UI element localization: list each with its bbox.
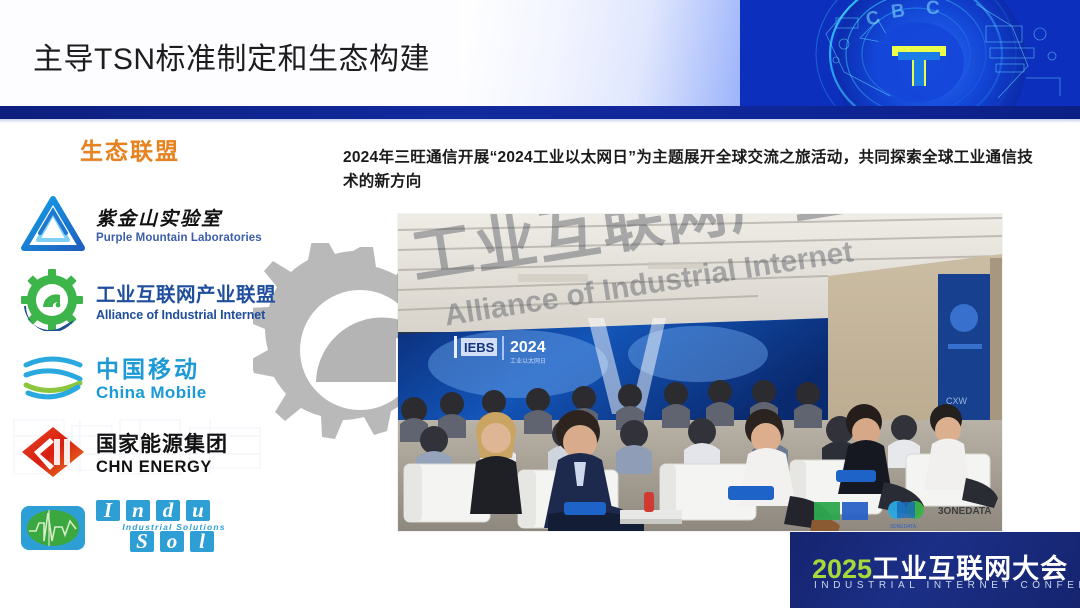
chn-energy-logo-icon — [18, 421, 88, 483]
partner-logo-purple-mountain-laboratories: 紫金山实验室 Purple Mountain Laboratories — [0, 186, 290, 262]
svg-text:3ONEDATA: 3ONEDATA — [890, 524, 917, 530]
svg-text:B: B — [890, 0, 907, 23]
partner-logo-alliance-of-industrial-internet: 工业互联网产业联盟 Alliance of Industrial Interne… — [0, 262, 290, 338]
partner-name-en: Alliance of Industrial Internet — [96, 308, 276, 322]
event-photo: CXW IEBS 2024 工业以太网日 — [398, 214, 1002, 531]
indu-sol-tagline: Industrial Solutions — [102, 522, 246, 532]
svg-text:IEBS: IEBS — [464, 340, 495, 355]
body-paragraph: 2024年三旺通信开展“2024工业以太网日”为主题展开全球交流之旅活动，共同探… — [343, 146, 1033, 195]
svg-text:C: C — [926, 0, 940, 19]
header-divider-band — [0, 106, 1080, 119]
header-divider-shadow — [0, 119, 1080, 123]
indu-sol-logo-icon — [18, 497, 88, 559]
indu-sol-letter: I — [96, 500, 120, 521]
partner-logo-chn-energy: 国家能源集团 CHN ENERGY — [0, 414, 290, 490]
page-title: 主导TSN标准制定和生态构建 — [33, 34, 430, 78]
section-heading: 生态联盟 — [80, 132, 180, 166]
indu-sol-letter: u — [186, 500, 210, 521]
purple-mountain-laboratories-logo-icon — [18, 193, 88, 255]
china-mobile-logo-icon — [18, 345, 88, 407]
partner-name-cn: 工业互联网产业联盟 — [96, 278, 276, 307]
partner-logo-indu-sol: I n d u Industrial Solutions S o l — [0, 490, 290, 566]
partner-name-en: China Mobile — [96, 383, 207, 403]
indu-sol-letter: o — [160, 531, 184, 552]
slide-header: C B C 主导TSN标准制定和生态构建 — [0, 0, 1080, 106]
partner-name-cn: 国家能源集团 — [96, 428, 228, 458]
slide-root: C B C 主导TSN标准制定和生态构建 生态联盟 2024年三旺通信开展“20… — [0, 0, 1080, 608]
indu-sol-letter: d — [156, 500, 180, 521]
alliance-of-industrial-internet-logo-icon — [18, 269, 88, 331]
header-tech-graphic: C B C — [740, 0, 1080, 106]
partner-name-cn: 中国移动 — [96, 350, 207, 384]
partner-logo-china-mobile: 中国移动 China Mobile — [0, 338, 290, 414]
partner-name-cn: 紫金山实验室 — [96, 204, 262, 231]
svg-text:工业以太网日: 工业以太网日 — [510, 357, 546, 365]
partner-name-en: Purple Mountain Laboratories — [96, 232, 262, 244]
indu-sol-letter: n — [126, 500, 150, 521]
conference-name-en: INDUSTRIAL INTERNET CONFERENCE — [814, 580, 1080, 591]
indu-sol-letter: S — [130, 531, 154, 552]
partner-logo-list: 紫金山实验室 Purple Mountain Laboratories — [0, 186, 290, 566]
indu-sol-letter: l — [190, 531, 214, 552]
partner-name-en: CHN ENERGY — [96, 458, 228, 477]
svg-text:2024: 2024 — [510, 339, 546, 356]
svg-text:3ONEDATA: 3ONEDATA — [938, 506, 992, 517]
indu-sol-wordmark: I n d u Industrial Solutions S o l — [96, 500, 246, 556]
conference-badge: 2025工业互联网大会 INDUSTRIAL INTERNET CONFEREN… — [790, 532, 1080, 608]
